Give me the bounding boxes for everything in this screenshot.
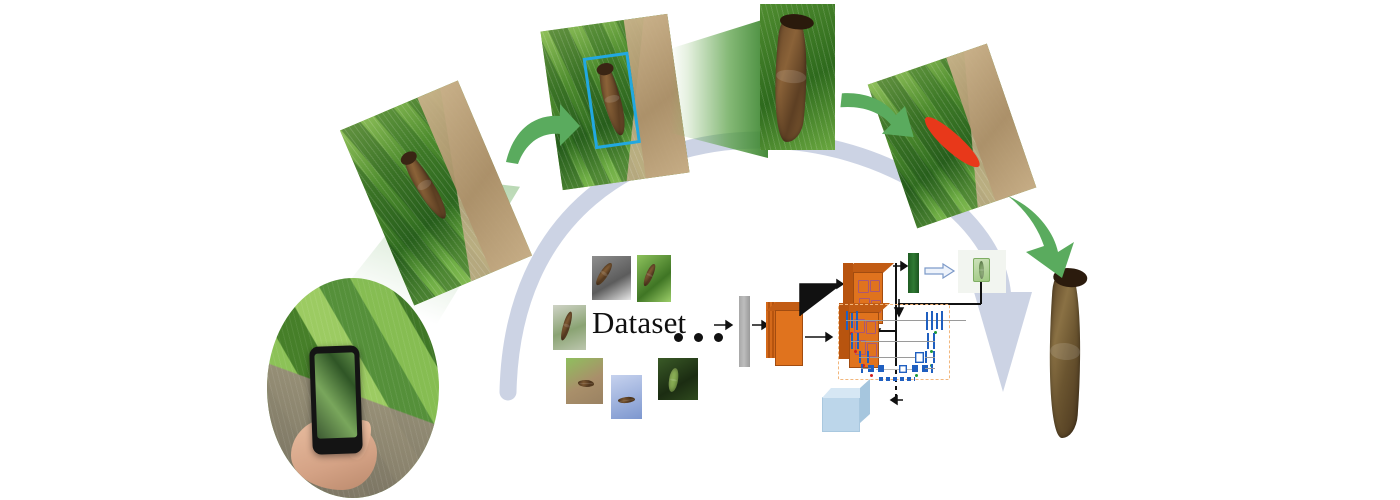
arrow-conv1-to-conv3 xyxy=(805,330,839,344)
box-marker xyxy=(915,352,924,363)
feature-vector-bar xyxy=(908,253,919,293)
arrow-into-network xyxy=(714,318,738,332)
list-item xyxy=(611,375,642,419)
detection-row xyxy=(870,357,918,358)
smartphone xyxy=(309,345,363,455)
input-feature-slab xyxy=(739,296,750,367)
green-arrow-2 xyxy=(838,60,932,144)
dataset-ellipsis xyxy=(674,333,723,342)
list-item xyxy=(592,256,631,300)
conv-block-1 xyxy=(775,310,803,366)
green-arrow-1 xyxy=(500,84,584,168)
list-item xyxy=(553,305,586,350)
classification-arrow xyxy=(924,263,956,279)
classified-thumbnail xyxy=(973,258,990,282)
dataset-label: Dataset xyxy=(592,305,686,341)
list-item xyxy=(637,255,671,302)
output-volume-cube xyxy=(822,388,870,432)
figure-canvas: Dataset xyxy=(0,0,1400,500)
green-arrow-3 xyxy=(1000,190,1100,282)
list-item xyxy=(566,358,603,404)
detection-row xyxy=(861,341,929,342)
phone-screen xyxy=(314,352,357,438)
list-item xyxy=(658,358,698,400)
classification-feedback-line xyxy=(980,282,982,304)
detection-row xyxy=(857,320,966,321)
arrow-to-cube xyxy=(889,392,909,408)
extracted-larva xyxy=(1040,268,1100,440)
detection-row-dashed xyxy=(879,377,915,381)
zoom-crop-photo xyxy=(760,4,835,150)
